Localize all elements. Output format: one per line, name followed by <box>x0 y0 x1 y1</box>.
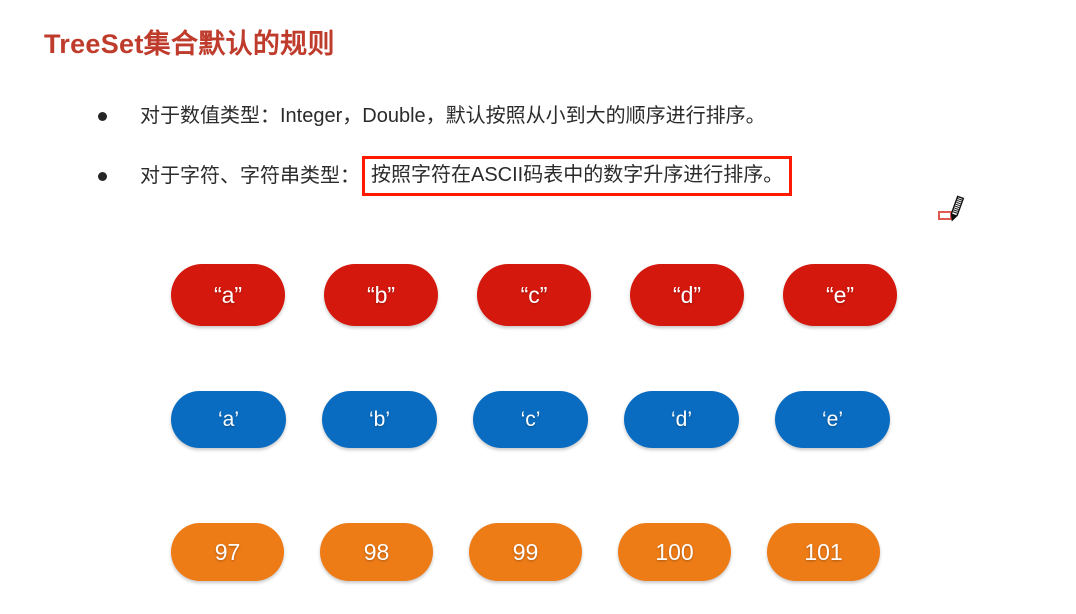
pen-color-chip-icon <box>938 211 952 220</box>
pill-string-a: “a” <box>171 264 285 326</box>
bullet-item-1: 对于数值类型：Integer，Double，默认按照从小到大的顺序进行排序。 <box>98 102 766 130</box>
pill-row-strings: “a” “b” “c” “d” “e” <box>171 264 941 326</box>
bullet-text-1: 对于数值类型：Integer，Double，默认按照从小到大的顺序进行排序。 <box>140 102 766 130</box>
pill-string-b: “b” <box>324 264 438 326</box>
pill-ascii-101: 101 <box>767 523 880 581</box>
bullet-item-2: 对于字符、字符串类型： 按照字符在ASCII码表中的数字升序进行排序。 <box>98 156 792 196</box>
highlighted-rule-box: 按照字符在ASCII码表中的数字升序进行排序。 <box>362 156 792 196</box>
bullet-dot-icon <box>98 172 107 181</box>
pen-cursor-icon <box>944 195 970 230</box>
slide-canvas: TreeSet集合默认的规则 对于数值类型：Integer，Double，默认按… <box>0 0 1076 614</box>
pill-string-d: “d” <box>630 264 744 326</box>
pill-char-b: ‘b’ <box>322 391 437 448</box>
bullet-text-2: 对于字符、字符串类型： <box>140 162 360 190</box>
pill-row-chars: ‘a’ ‘b’ ‘c’ ‘d’ ‘e’ <box>171 391 941 448</box>
pill-char-d: ‘d’ <box>624 391 739 448</box>
pill-string-e: “e” <box>783 264 897 326</box>
bullet-dot-icon <box>98 112 107 121</box>
pill-char-e: ‘e’ <box>775 391 890 448</box>
pill-ascii-99: 99 <box>469 523 582 581</box>
pill-char-a: ‘a’ <box>171 391 286 448</box>
pill-char-c: ‘c’ <box>473 391 588 448</box>
pill-row-ascii: 97 98 99 100 101 <box>171 523 941 581</box>
pill-ascii-97: 97 <box>171 523 284 581</box>
pill-grid: “a” “b” “c” “d” “e” ‘a’ ‘b’ ‘c’ ‘d’ ‘e’ … <box>171 264 941 581</box>
pointer-cursor <box>936 195 976 229</box>
pill-ascii-100: 100 <box>618 523 731 581</box>
page-title: TreeSet集合默认的规则 <box>44 22 335 61</box>
pill-ascii-98: 98 <box>320 523 433 581</box>
pill-string-c: “c” <box>477 264 591 326</box>
